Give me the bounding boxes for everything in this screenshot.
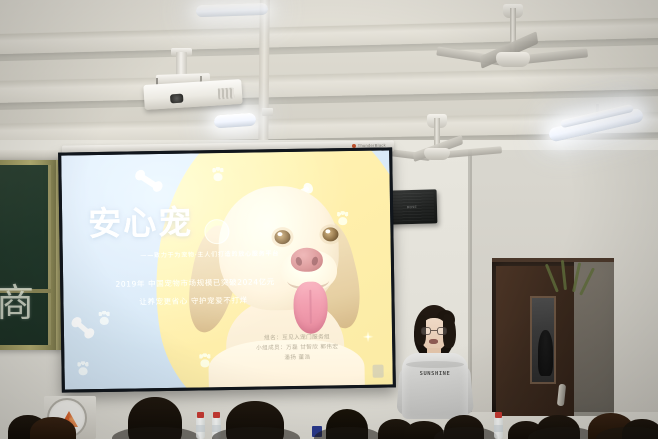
door-window-silhouette [538, 330, 553, 376]
bottle-cap [213, 412, 220, 418]
audience-shoulder [314, 427, 382, 439]
dog-nostril [295, 256, 303, 266]
dog-eye [274, 230, 290, 244]
classroom-scene: 商 BOSE ThunderBlack [0, 0, 658, 439]
sweatshirt-text: SUNSHINE [396, 371, 474, 377]
wall-speaker-icon: BOSE [387, 189, 438, 224]
slide-credits: 组名：互见入宠门服务组 小组成员：万磊 甘智欣 郭伟宏 潘扬 董浩 [234, 333, 360, 364]
ceiling-fan-center-icon [438, 8, 588, 88]
ceiling-rib [258, 0, 270, 150]
audience-shoulder [212, 427, 300, 439]
projector-vent [218, 88, 235, 100]
audience-shoulder [434, 427, 498, 439]
bone-icon [138, 173, 160, 190]
audience [0, 379, 658, 439]
plant-leaf [561, 260, 567, 290]
plant-icon [552, 260, 586, 294]
glasses-lens [421, 327, 431, 335]
slide-corner-logo [373, 365, 384, 378]
plant-leaf [572, 262, 581, 292]
ceiling-outlet [262, 108, 273, 116]
eye-glint [325, 229, 330, 233]
water-bottle-icon [494, 417, 503, 439]
sweatshirt-seam [406, 361, 464, 368]
presentation-slide: 安心宠 ——致力于为宠物·主人们打造的放心服务平台 2019年 中国宠物市场规模… [61, 150, 393, 389]
audience-head [30, 417, 76, 439]
eye-glint [277, 232, 282, 236]
bottle-label [494, 425, 503, 432]
projection-screen: 安心宠 ——致力于为宠物·主人们打造的放心服务平台 2019年 中国宠物市场规模… [58, 147, 396, 392]
projector-body [143, 79, 242, 110]
dog-eye [322, 227, 338, 241]
bottle-label [196, 425, 205, 432]
projector-mount-rod [176, 52, 187, 76]
fluorescent-tube-center-icon [196, 3, 268, 18]
glasses-lens [437, 327, 447, 335]
water-bottle-icon [196, 417, 205, 439]
bottle-cap [495, 412, 502, 418]
audience-shoulder [112, 427, 200, 439]
slide-credit-line: 潘扬 董浩 [234, 352, 360, 364]
door-window [530, 296, 556, 384]
bottle-cap [197, 412, 204, 418]
brand-mark-icon [352, 143, 356, 147]
paw-print-icon [79, 367, 88, 375]
slide-title: 安心宠 [88, 206, 194, 241]
dog-nostril [311, 256, 319, 266]
blackboard-chalk-text: 商 [0, 284, 52, 322]
bone-icon [74, 320, 91, 336]
ceiling-projector-icon [140, 52, 250, 114]
presenter-mouth [429, 339, 438, 344]
speaker-brand-label: BOSE [407, 205, 417, 209]
projector-lens-icon [170, 94, 184, 104]
eyeglasses-icon [421, 327, 447, 335]
fan-motor [424, 148, 450, 160]
dog-tongue [293, 281, 328, 334]
paw-print-icon [100, 317, 109, 325]
fan-motor [496, 52, 530, 67]
